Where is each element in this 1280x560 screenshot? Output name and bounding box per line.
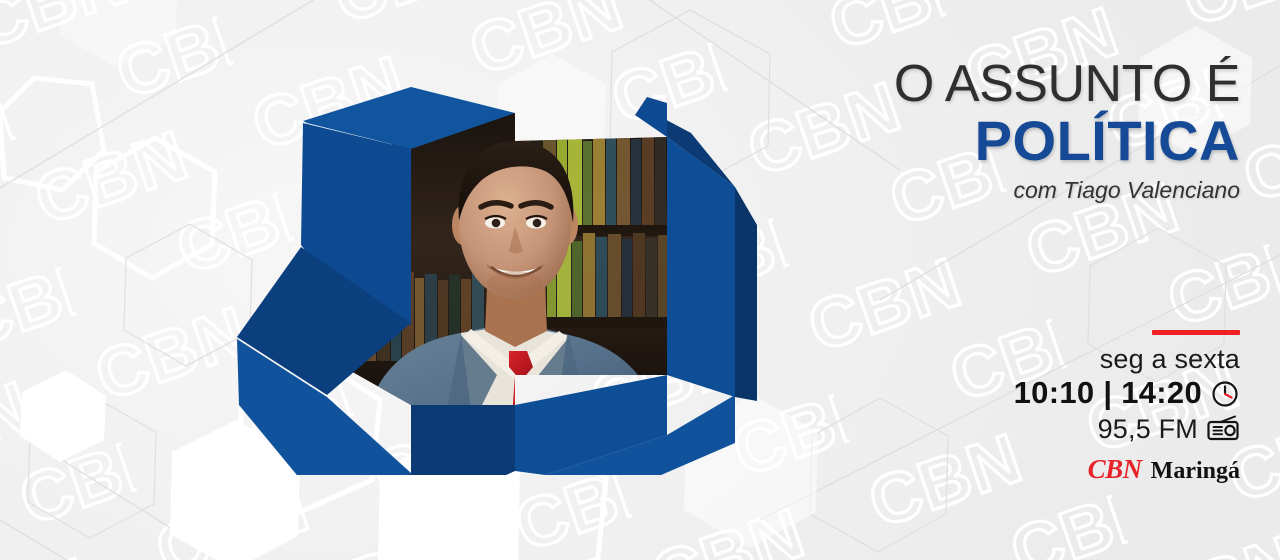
clock-icon <box>1210 379 1240 409</box>
program-title-line2: POLÍTICA <box>620 112 1240 171</box>
red-divider-rule <box>1152 330 1240 335</box>
program-host-subtitle: com Tiago Valenciano <box>620 177 1240 204</box>
schedule-times: 10:10 | 14:20 <box>1014 376 1202 411</box>
schedule-days: seg a sexta <box>920 344 1240 374</box>
schedule-times-row: 10:10 | 14:20 <box>920 376 1240 411</box>
station-logo-brand: CBN <box>1088 454 1142 485</box>
schedule-block: seg a sexta 10:10 | 14:20 95,5 FM CBN M <box>920 330 1240 485</box>
program-title-block: O ASSUNTO É POLÍTICA com Tiago Valencian… <box>620 58 1240 204</box>
schedule-frequency: 95,5 FM <box>1098 414 1198 444</box>
station-logo: CBN Maringá <box>920 454 1240 485</box>
radio-program-banner: CBN CBN <box>0 0 1280 560</box>
radio-icon <box>1206 415 1240 443</box>
program-title-line1: O ASSUNTO É <box>620 58 1240 110</box>
schedule-frequency-row: 95,5 FM <box>920 414 1240 444</box>
station-logo-city: Maringá <box>1151 458 1240 485</box>
